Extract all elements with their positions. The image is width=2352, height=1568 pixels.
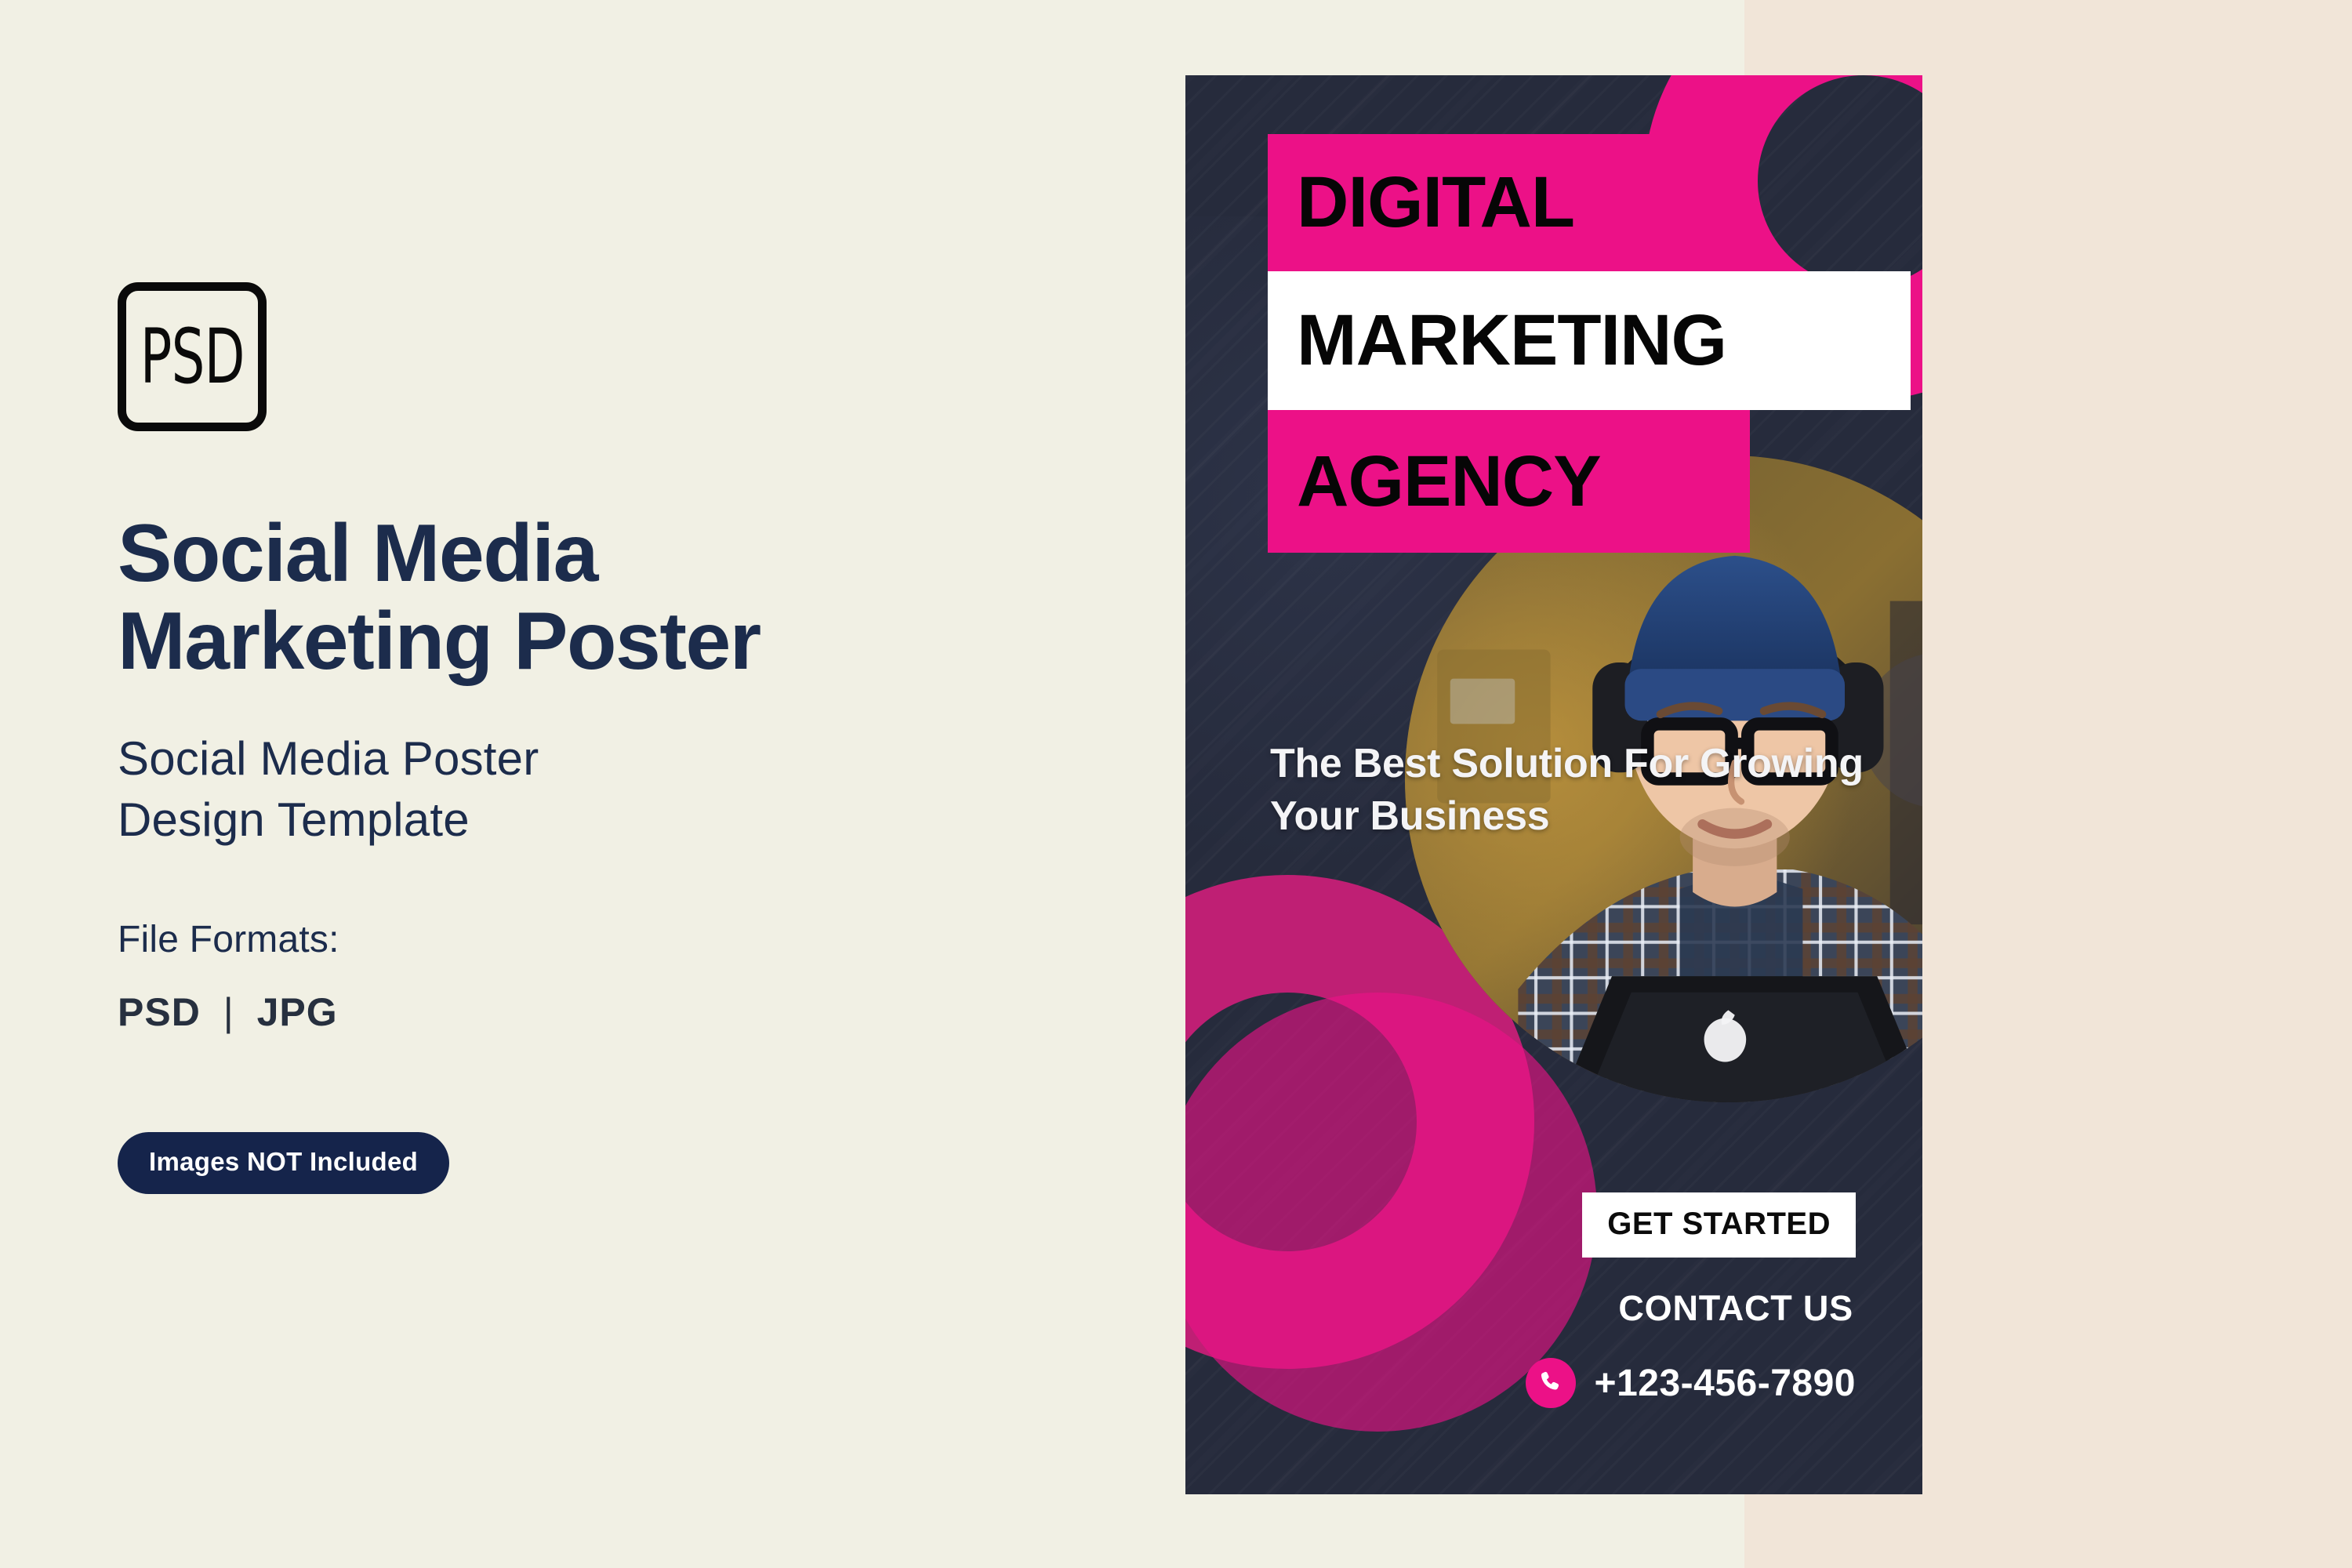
file-formats-label: File Formats: [118, 918, 1058, 961]
page-subtitle-line-1: Social Media Poster [118, 728, 1058, 789]
product-info-column: PSD Social Media Marketing Poster Social… [118, 282, 1058, 1194]
title-bar-agency: AGENCY [1268, 410, 1750, 553]
file-format-separator: | [212, 990, 245, 1034]
poster-title-stack: DIGITAL MARKETING AGENCY [1268, 134, 1911, 553]
page-title-line-1: Social Media [118, 510, 1058, 597]
title-bar-marketing: MARKETING [1268, 271, 1911, 410]
file-format-psd: PSD [118, 990, 201, 1034]
poster-preview: LOGO HERE DIGITAL MARKETING AGENCY The B… [1185, 75, 1922, 1494]
contact-us-label: CONTACT US [1618, 1288, 1853, 1329]
phone-contact-row[interactable]: +123-456-7890 [1526, 1358, 1856, 1408]
get-started-button[interactable]: GET STARTED [1582, 1192, 1856, 1258]
page-title: Social Media Marketing Poster [118, 510, 1058, 686]
file-formats-value: PSD | JPG [118, 989, 1058, 1035]
poster-tagline-line-2: Your Business [1270, 790, 1864, 843]
file-format-jpg: JPG [257, 990, 338, 1034]
page-subtitle: Social Media Poster Design Template [118, 728, 1058, 851]
title-bar-digital: DIGITAL [1268, 134, 1750, 271]
phone-number: +123-456-7890 [1595, 1362, 1856, 1405]
images-not-included-badge: Images NOT Included [118, 1132, 449, 1194]
screenshot-canvas: PSD Social Media Marketing Poster Social… [0, 0, 2352, 1568]
psd-badge-label: PSD [140, 319, 245, 394]
poster-tagline-line-1: The Best Solution For Growing [1270, 738, 1864, 790]
psd-file-badge: PSD [118, 282, 267, 431]
phone-handset-icon [1526, 1358, 1576, 1408]
page-subtitle-line-2: Design Template [118, 789, 1058, 851]
poster-tagline: The Best Solution For Growing Your Busin… [1270, 738, 1864, 842]
page-title-line-2: Marketing Poster [118, 597, 1058, 685]
phone-handset-glyph [1537, 1370, 1564, 1396]
